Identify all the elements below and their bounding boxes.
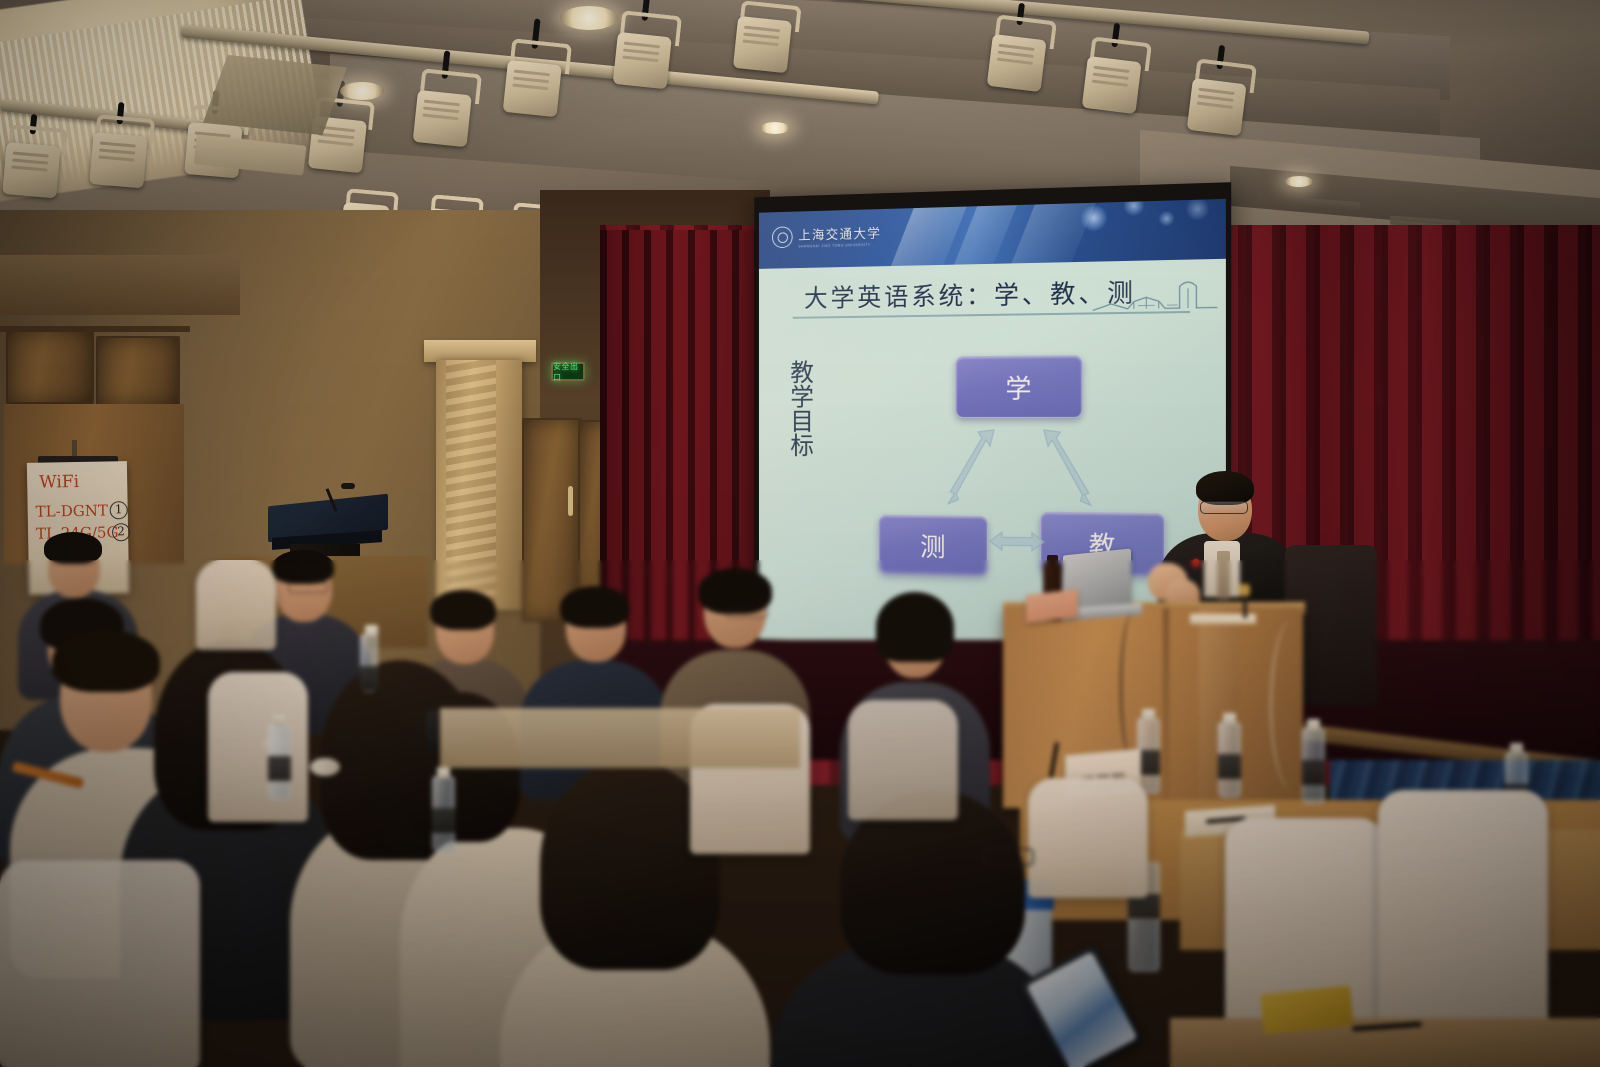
- speaker-hair: [1196, 471, 1254, 505]
- sjtu-logo: 上海交通大学 SHANGHAI JIAO TONG UNIVERSITY: [772, 223, 881, 249]
- door-frame: [0, 326, 190, 332]
- diagram-node-learn-label: 学: [1005, 368, 1031, 405]
- recessed-downlight: [560, 6, 618, 30]
- truss-bracket: [203, 55, 347, 135]
- flipchart-badge-1: 1: [110, 501, 128, 519]
- water-bottle: [1302, 728, 1325, 804]
- recessed-downlight: [1285, 176, 1313, 187]
- diagram-side-label: 教学目标: [781, 360, 813, 458]
- chair-cover: [196, 560, 276, 650]
- audience-member-with-phone: [770, 790, 1060, 1067]
- speaker-tie: [1217, 551, 1230, 599]
- wooden-door-left: [6, 330, 94, 404]
- diagram-node-assess-label: 测: [920, 527, 945, 564]
- speaker-lapel-pin: [1192, 559, 1200, 567]
- chair-cover: [208, 672, 308, 822]
- table-surface: [440, 708, 800, 768]
- glasses-icon: [288, 582, 328, 593]
- exit-sign-label: 安全出口: [553, 361, 583, 383]
- diagram-arrow-teach-to-learn: [1032, 424, 1103, 513]
- wooden-door-left: [96, 336, 180, 406]
- conference-photo-scene: 安全出口 上海交通大学 SHANGHAI JIAO: [0, 0, 1600, 1067]
- glasses-icon: [726, 606, 768, 618]
- diagram-node-learn: 学: [955, 355, 1082, 418]
- flipchart-line-1: TL-DGNT: [36, 501, 108, 520]
- water-bottle: [1218, 722, 1241, 798]
- wall-cornice: [0, 255, 240, 315]
- sjtu-name-cn: 上海交通大学: [798, 223, 881, 244]
- door-handle[interactable]: [568, 486, 573, 516]
- chair-cover: [0, 860, 200, 1067]
- pilaster-column: [436, 360, 522, 610]
- sjtu-name-en: SHANGHAI JIAO TONG UNIVERSITY: [798, 243, 881, 249]
- water-bottle: [432, 776, 455, 852]
- diagram-arrow-assess-to-learn: [937, 424, 1006, 512]
- sjtu-seal-icon: [772, 226, 793, 248]
- glasses-icon: [402, 712, 434, 724]
- recessed-downlight: [340, 82, 384, 100]
- speaker-glasses-icon: [1200, 501, 1248, 514]
- diagram-node-assess: 测: [878, 515, 988, 576]
- flipchart-heading: WiFi: [39, 472, 79, 493]
- glasses-icon: [982, 848, 1034, 866]
- water-bottle: [360, 634, 378, 692]
- microphone-head-icon: [1239, 584, 1250, 596]
- water-bottle: [268, 724, 291, 800]
- slide-header-banner: 上海交通大学 SHANGHAI JIAO TONG UNIVERSITY: [759, 199, 1226, 269]
- lectern-microphone-head-icon: [341, 483, 355, 489]
- pilaster-capital: [424, 340, 536, 362]
- exit-sign: 安全出口: [551, 362, 585, 381]
- diagram-arrow-assess-teach: [988, 528, 1046, 555]
- hair-clip: [310, 758, 340, 776]
- recessed-downlight: [760, 122, 790, 134]
- slide-title: 大学英语系统：学、教、测: [804, 273, 1136, 315]
- campus-skyline-icon: [1093, 275, 1218, 314]
- chair-cover: [848, 700, 958, 820]
